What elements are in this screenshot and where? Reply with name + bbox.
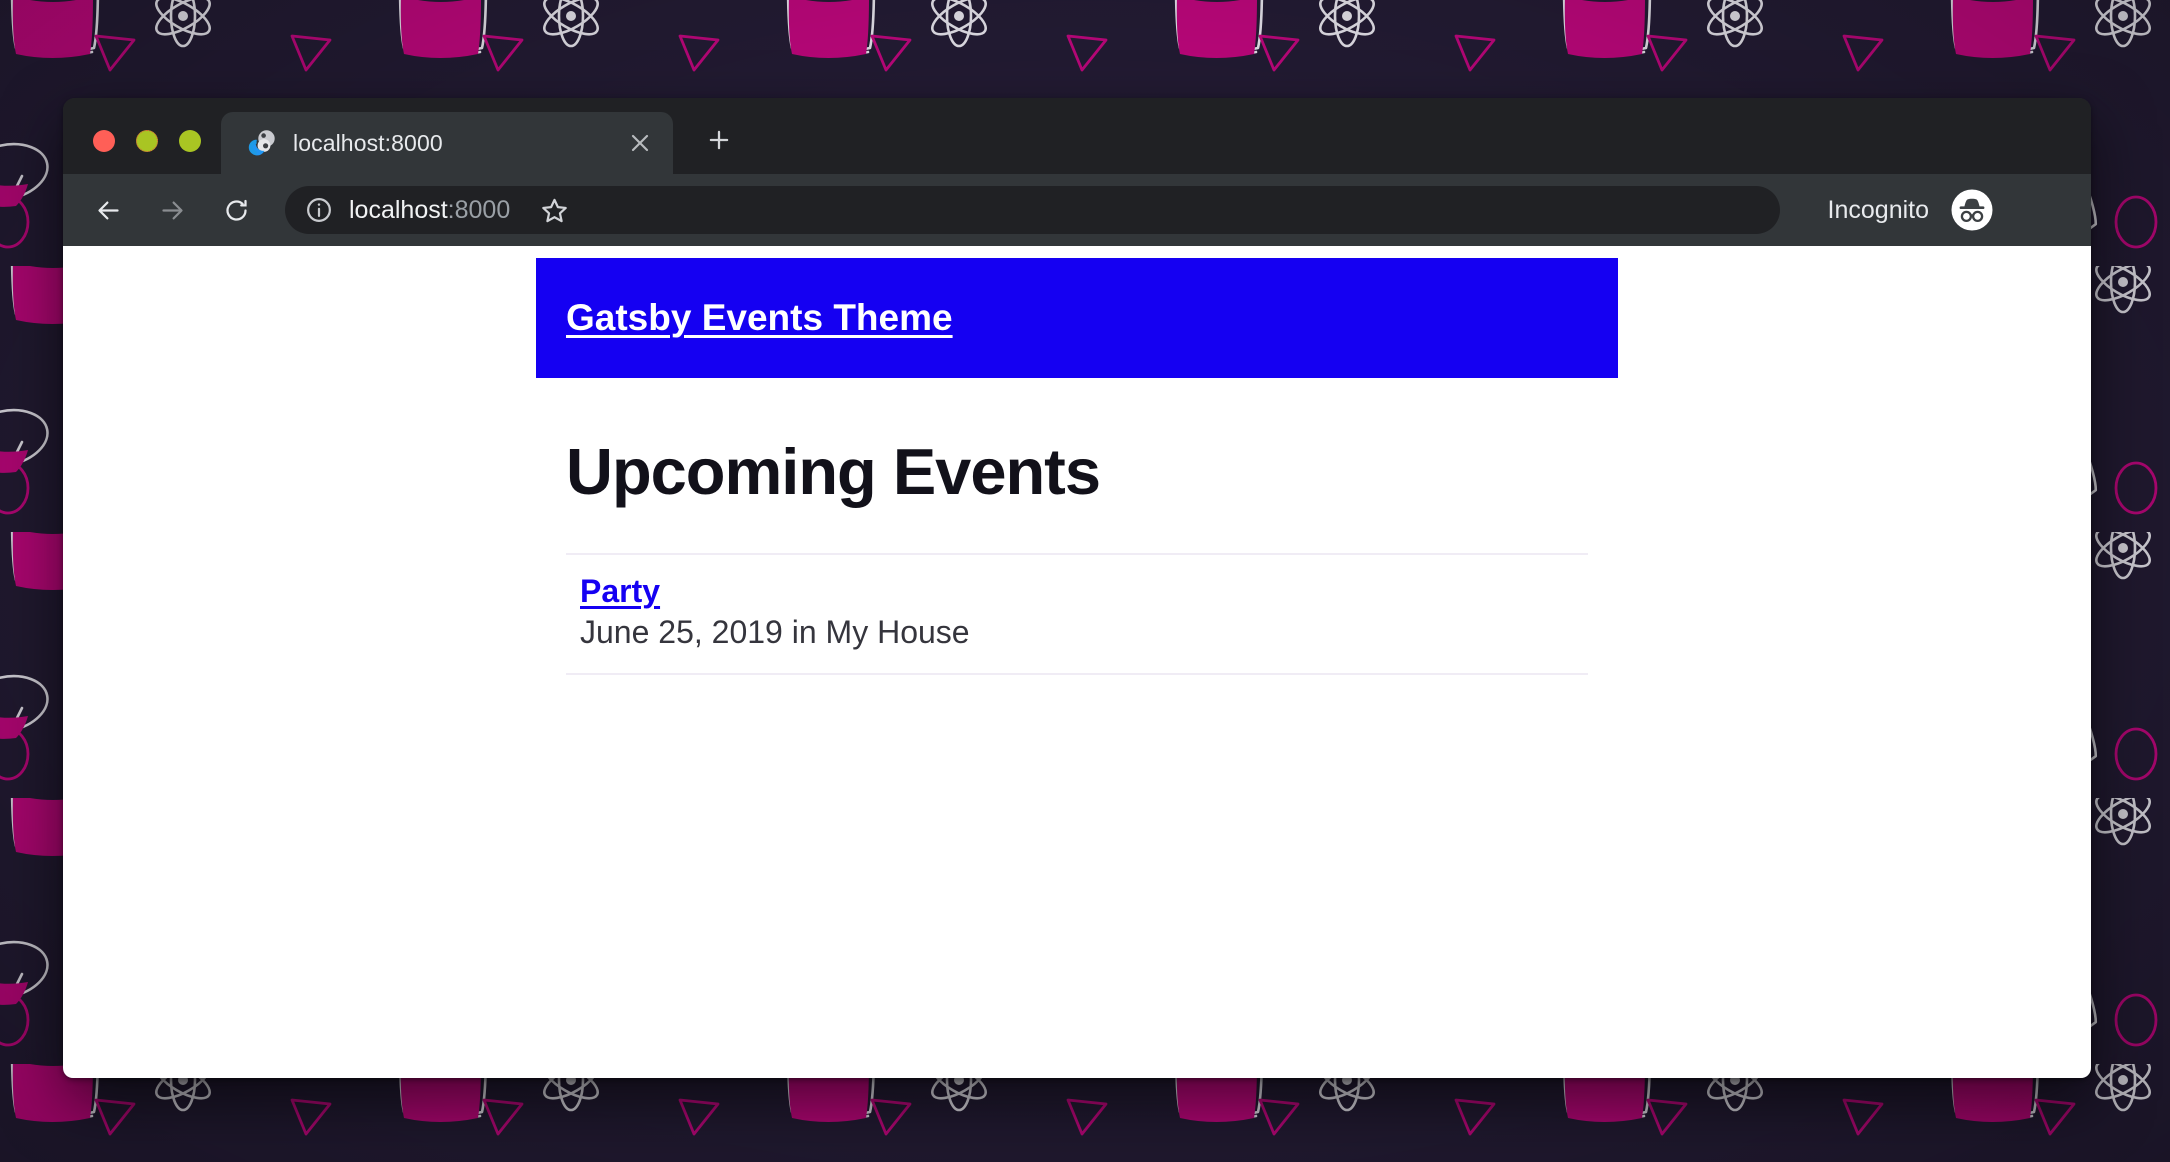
page-title: Upcoming Events — [566, 434, 1588, 509]
close-window-button[interactable] — [93, 130, 115, 152]
info-circle-icon[interactable] — [305, 196, 333, 224]
desktop-background: localhost:8000 — [0, 0, 2170, 1162]
url-host: localhost — [349, 196, 448, 224]
events-list: Party June 25, 2019 in My House — [566, 553, 1588, 675]
new-tab-button[interactable] — [695, 116, 743, 164]
event-name-link[interactable]: Party — [580, 573, 660, 610]
page-content: Gatsby Events Theme Upcoming Events Part… — [536, 258, 1618, 675]
browser-tab-strip: localhost:8000 — [63, 98, 2091, 174]
close-icon[interactable] — [623, 126, 657, 160]
browser-tab[interactable]: localhost:8000 — [221, 112, 673, 174]
address-bar-url[interactable]: localhost:8000 — [349, 196, 510, 225]
gatsby-react-icon — [245, 127, 277, 159]
forward-arrow-icon[interactable] — [143, 181, 201, 239]
profile-label[interactable]: Incognito — [1828, 196, 1929, 225]
address-bar[interactable]: localhost:8000 — [285, 186, 1780, 234]
star-icon[interactable] — [526, 182, 582, 238]
event-meta: June 25, 2019 in My House — [580, 614, 1588, 651]
main-content: Upcoming Events Party June 25, 2019 in M… — [536, 434, 1618, 675]
list-item: Party June 25, 2019 in My House — [566, 553, 1588, 675]
page-viewport: Gatsby Events Theme Upcoming Events Part… — [63, 246, 2091, 1078]
zoom-window-button[interactable] — [179, 130, 201, 152]
site-header-banner: Gatsby Events Theme — [536, 258, 1618, 378]
browser-tab-title: localhost:8000 — [293, 130, 607, 157]
incognito-avatar-icon[interactable] — [1951, 189, 1993, 231]
browser-toolbar: localhost:8000 Incognito — [63, 174, 2091, 246]
reload-icon[interactable] — [207, 181, 265, 239]
site-title-link[interactable]: Gatsby Events Theme — [566, 297, 953, 339]
back-arrow-icon[interactable] — [79, 181, 137, 239]
browser-window: localhost:8000 — [63, 98, 2091, 1078]
minimize-window-button[interactable] — [136, 130, 158, 152]
kebab-menu-icon[interactable] — [2017, 184, 2069, 236]
window-traffic-lights — [85, 130, 221, 174]
url-port: :8000 — [448, 196, 511, 224]
